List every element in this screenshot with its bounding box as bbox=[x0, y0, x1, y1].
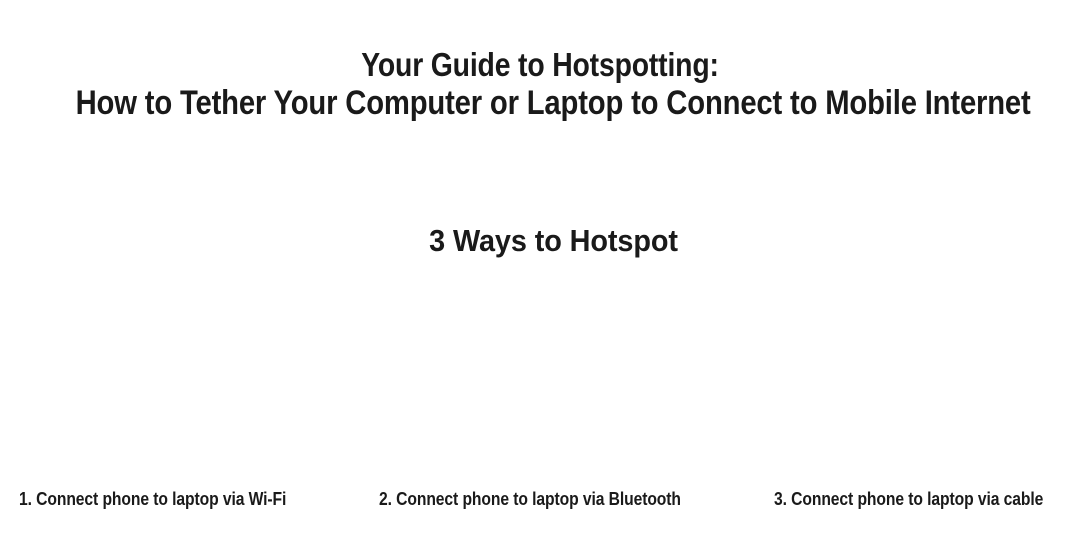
usb-cable-tethering-illustration bbox=[774, 280, 1062, 478]
page-title-line-1: Your Guide to Hotspotting: bbox=[76, 46, 1005, 84]
section-heading: 3 Ways to Hotspot bbox=[39, 222, 1069, 260]
infographic-page: Your Guide to Hotspotting: How to Tether… bbox=[0, 0, 1080, 552]
illustrations-row bbox=[0, 280, 1080, 478]
wifi-tethering-illustration bbox=[19, 280, 319, 478]
page-title-line-2: How to Tether Your Computer or Laptop to… bbox=[76, 84, 1005, 123]
page-title: Your Guide to Hotspotting: How to Tether… bbox=[0, 46, 1080, 123]
method-caption-wifi: 1. Connect phone to laptop via Wi-Fi bbox=[19, 488, 286, 510]
bluetooth-tethering-illustration bbox=[379, 280, 705, 478]
method-caption-bluetooth: 2. Connect phone to laptop via Bluetooth bbox=[379, 488, 681, 510]
method-caption-cable: 3. Connect phone to laptop via cable bbox=[774, 488, 1043, 510]
